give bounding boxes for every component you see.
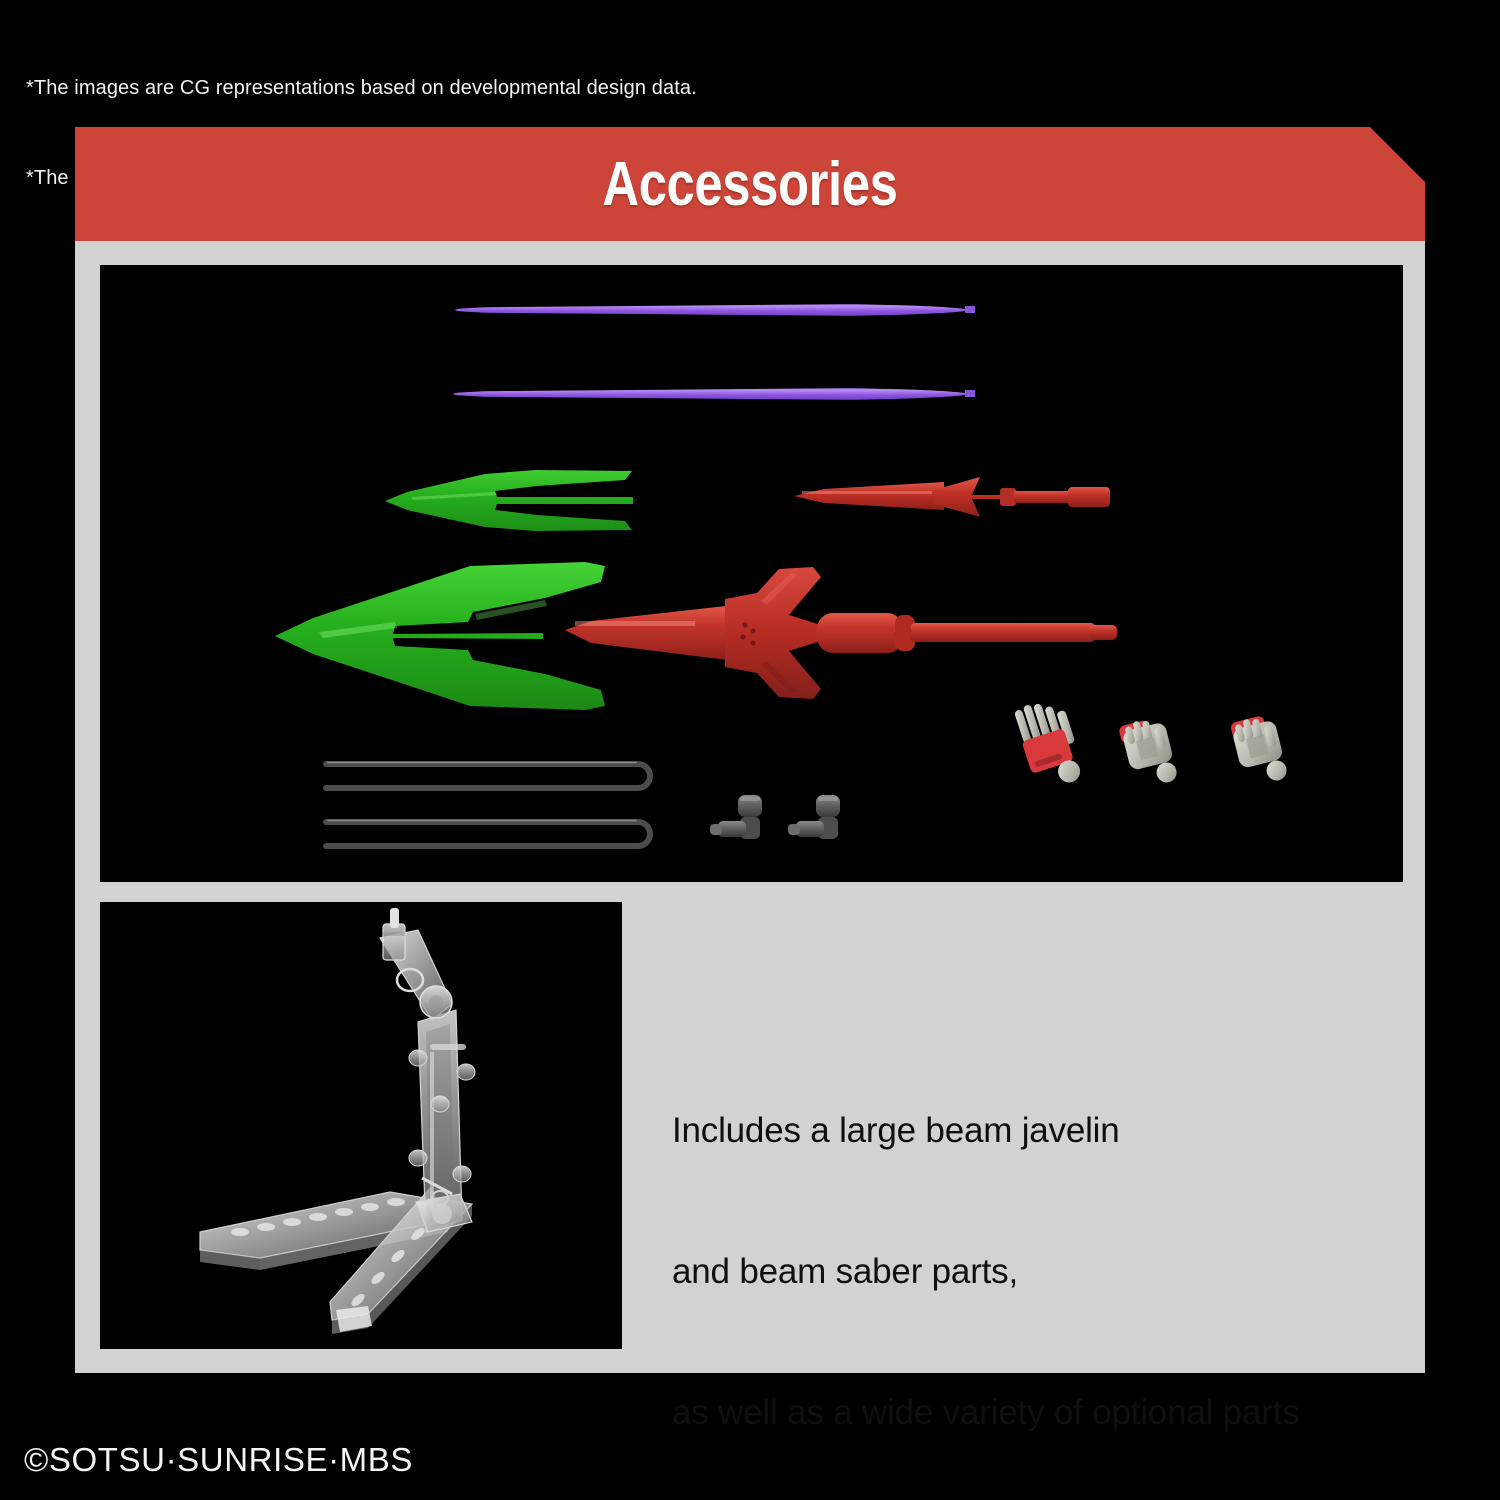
u-shaped-wire-part-1	[322, 760, 662, 792]
joint-arm	[718, 821, 746, 837]
grip-hand-part-right	[1228, 713, 1300, 793]
wire-path	[326, 822, 650, 846]
open-hand-part	[1008, 700, 1092, 790]
wire-shape	[322, 818, 662, 850]
arm-pivot-center	[429, 995, 443, 1009]
wire-shape	[322, 760, 662, 792]
hand-group	[1230, 713, 1289, 788]
hand-shape	[1008, 700, 1092, 790]
accessories-card: Accessories	[75, 127, 1425, 1373]
large-red-beam-javelin	[565, 565, 1125, 703]
joint-arm	[796, 821, 824, 837]
joint-shape	[710, 793, 766, 851]
red-javelin-endcap	[1089, 625, 1117, 640]
wire-path	[326, 764, 650, 788]
red-javelin-rivet	[740, 634, 745, 639]
hand-group	[1011, 700, 1086, 790]
top-post-peg	[390, 908, 399, 928]
joint-shape	[788, 793, 844, 851]
joint-highlight	[740, 797, 760, 801]
small-green-beam-javelin-effect	[385, 470, 635, 532]
red-javelin-collar	[1000, 488, 1016, 506]
joint-peg	[788, 824, 800, 835]
beam-saber-blade-shape	[455, 303, 967, 317]
red-javelin-endcap	[1068, 487, 1110, 507]
beam-saber-blade-2	[453, 387, 967, 401]
gray-joint-connector-2	[788, 793, 844, 851]
red-javelin-shape	[565, 565, 1125, 703]
red-javelin-rivet	[742, 622, 747, 627]
caption-line-3: as well as a wide variety of optional pa…	[672, 1389, 1402, 1436]
green-effect-shape	[385, 470, 635, 532]
red-javelin-grip	[817, 613, 903, 653]
green-effect-path	[385, 470, 633, 531]
beam-saber-mount-nub	[965, 306, 975, 313]
hand-shape	[1228, 713, 1300, 793]
beam-saber-mount-nub	[965, 390, 975, 397]
red-javelin-shaft	[1014, 491, 1072, 503]
disclaimer-line-1: *The images are CG representations based…	[26, 73, 697, 103]
hand-group	[1118, 715, 1179, 791]
red-javelin-rivet	[750, 640, 755, 645]
red-javelin-rivet	[750, 628, 755, 633]
accessories-parts-photo	[100, 265, 1403, 882]
beam-saber-blade-shape	[453, 387, 967, 401]
red-javelin-shaft-2	[1015, 623, 1095, 642]
u-shaped-wire-part-2	[322, 818, 662, 850]
base-top-post	[383, 908, 405, 960]
red-javelin-tip	[565, 605, 735, 661]
column-highlight	[430, 1052, 434, 1212]
small-red-beam-javelin	[794, 473, 1114, 521]
hand-shape	[1118, 715, 1190, 795]
joint-highlight	[818, 797, 838, 801]
accessories-caption: Includes a large beam javelin and beam s…	[672, 1013, 1402, 1500]
red-javelin-highlight	[802, 491, 932, 494]
page-root: *The images are CG representations based…	[0, 0, 1500, 1500]
caption-line-2: and beam saber parts,	[672, 1248, 1402, 1295]
beam-saber-blade-1	[455, 303, 967, 317]
lower-joint-pivot	[432, 1204, 452, 1224]
red-javelin-shaft	[911, 623, 1021, 642]
red-javelin-highlight	[575, 621, 695, 626]
section-title: Accessories	[602, 149, 897, 220]
joint-peg	[710, 824, 722, 835]
red-javelin-shape	[794, 473, 1114, 521]
red-javelin-barb	[934, 477, 1008, 517]
red-javelin-tip	[794, 482, 944, 510]
display-base-photo	[100, 902, 622, 1349]
grip-hand-part-left	[1118, 715, 1190, 795]
clear-action-display-base	[100, 902, 622, 1349]
card-body: Includes a large beam javelin and beam s…	[75, 241, 1425, 1373]
caption-line-1: Includes a large beam javelin	[672, 1107, 1402, 1154]
red-javelin-body	[725, 567, 827, 699]
gray-joint-connector-1	[710, 793, 766, 851]
copyright-notice: ©SOTSU·SUNRISE·MBS	[24, 1441, 413, 1479]
section-banner: Accessories	[75, 127, 1425, 241]
